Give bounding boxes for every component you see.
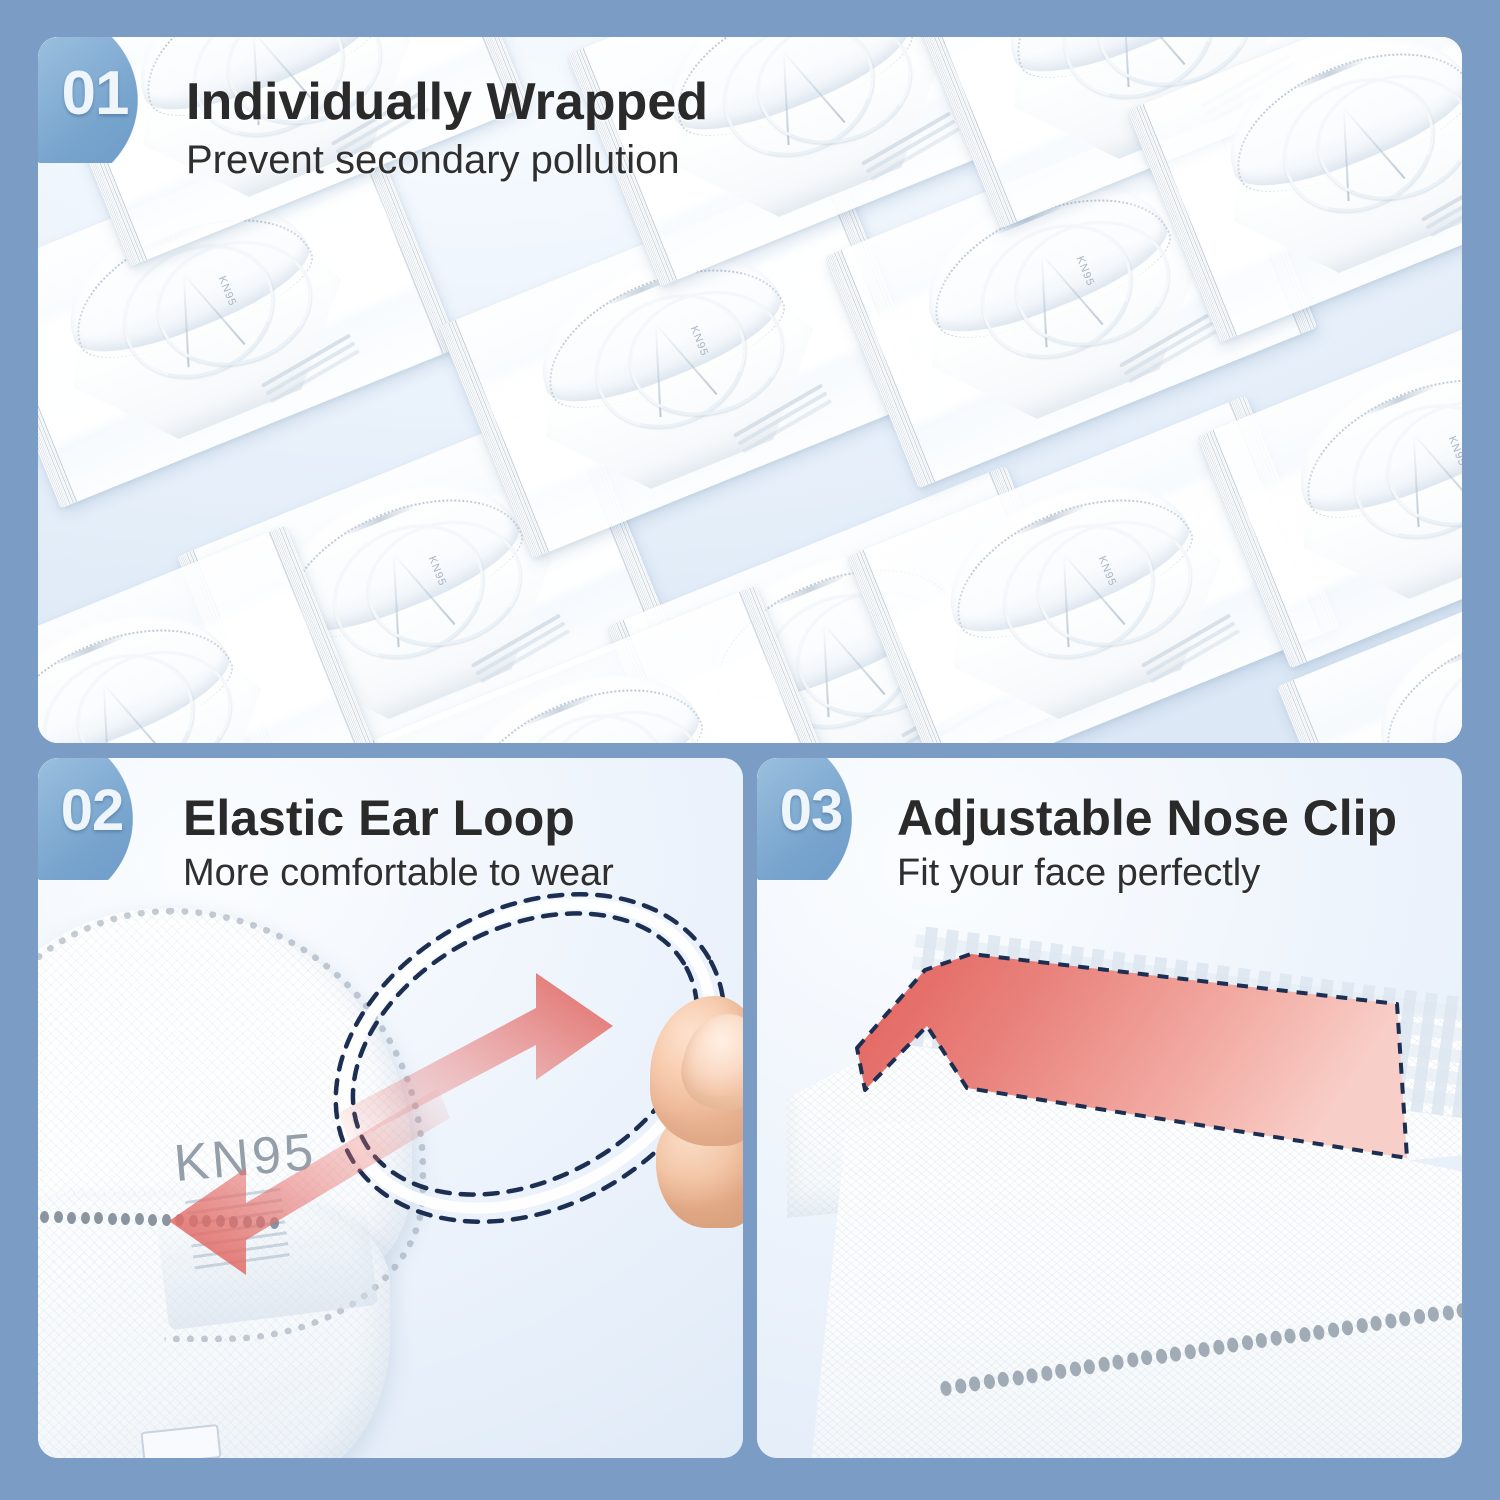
feature-panel-02: KN95 — [38, 758, 743, 1458]
panel-03-headings: Adjustable Nose Clip Fit your face perfe… — [897, 792, 1397, 895]
panel-02-title: Elastic Ear Loop — [183, 792, 614, 845]
mask-pleat-stripes — [185, 1188, 291, 1277]
panel-01-headings: Individually Wrapped Prevent secondary p… — [186, 75, 708, 183]
panel-01-subtitle: Prevent secondary pollution — [186, 137, 708, 183]
panel-02-headings: Elastic Ear Loop More comfortable to wea… — [183, 792, 614, 895]
kn95-label: KN95 — [172, 1122, 319, 1194]
mask-seam-dot-row — [38, 1208, 292, 1210]
panel-03-title: Adjustable Nose Clip — [897, 792, 1397, 845]
panel-02-subtitle: More comfortable to wear — [183, 852, 614, 896]
panel-03-subtitle: Fit your face perfectly — [897, 852, 1397, 896]
panel-01-title: Individually Wrapped — [186, 75, 708, 130]
infographic-stage: KN95 KN95 — [0, 0, 1500, 1500]
thumb-and-finger — [650, 978, 743, 1228]
kn95-mask-nose-closeup — [787, 908, 1462, 1458]
feature-panel-03: 03 Adjustable Nose Clip Fit your face pe… — [757, 758, 1462, 1458]
feature-panel-01: KN95 KN95 — [38, 37, 1462, 743]
mask-lower-fold — [805, 1103, 1462, 1458]
